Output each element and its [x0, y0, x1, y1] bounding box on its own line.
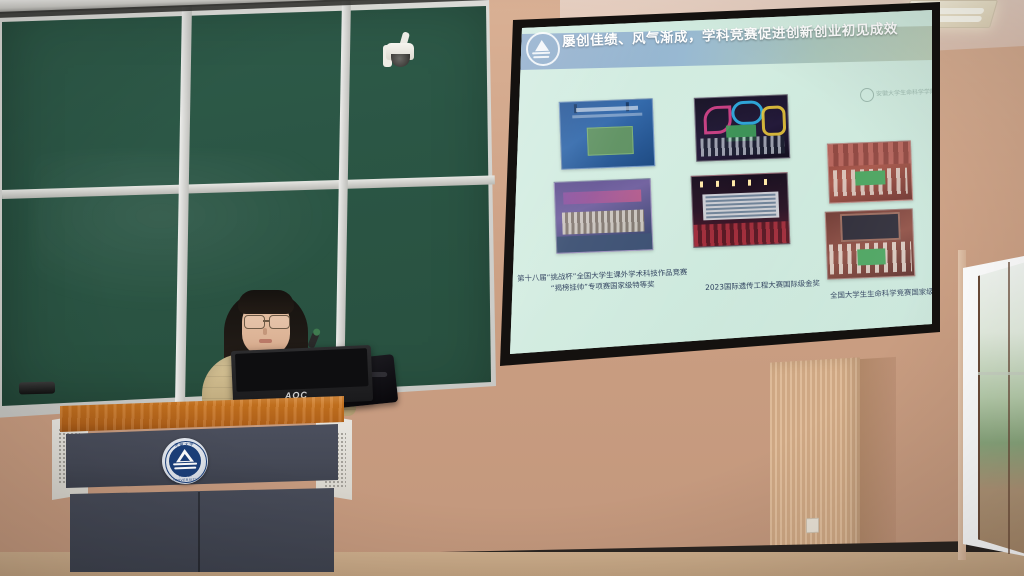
window-mullion: [1008, 262, 1010, 554]
slide-photo-2: [554, 178, 654, 254]
slide-photo-4: [691, 172, 791, 248]
university-emblem-podium: 安徽大学 ANHUI UNIVERSITY: [161, 437, 209, 485]
slide-caption-middle: 2023国际遗传工程大赛国际级金奖: [705, 279, 820, 294]
lower-wall-panel: [440, 330, 1024, 576]
microphone: [307, 331, 319, 348]
camera-dome-lens: [391, 54, 410, 67]
speaker-hair-fringe: [238, 290, 294, 314]
slide-photo-5: [827, 140, 913, 203]
slide-photo-6: [825, 208, 916, 279]
wall-pillar: [860, 357, 896, 565]
presentation-slide: 屡创佳绩、风气渐成，学科竞赛促进创新创业初见成效 安徽大学生命科学学院: [500, 2, 940, 366]
slide-corner-logo: 安徽大学生命科学学院: [860, 85, 926, 102]
slide-photo-1: [559, 98, 656, 170]
emblem-bottom-text: ANHUI UNIVERSITY: [167, 473, 203, 482]
slide-caption-left: 第十八届“挑战杯”全国大学生课外学术科技作品竞赛 “揭榜挂帅”专项赛国家级特等奖: [517, 267, 688, 295]
emblem-top-text: 安徽大学: [173, 442, 195, 448]
lecture-hall-photo: 屡创佳绩、风气渐成，学科竞赛促进创新创业初见成效 安徽大学生命科学学院: [0, 0, 1024, 576]
slide-caption-right: 全国大学生生命科学竞赛国家级一等奖: [830, 286, 956, 302]
podium-base-panel: [70, 488, 334, 572]
podium-base-seam: [198, 492, 200, 572]
window-sill: [978, 372, 1024, 375]
slide-corner-logo-text: 安徽大学生命科学学院: [876, 86, 936, 97]
speaker-glasses: [244, 315, 290, 327]
slide-photo-3: [694, 94, 790, 162]
speaker-mouth: [259, 339, 272, 343]
projection-screen: 屡创佳绩、风气渐成，学科竞赛促进创新创业初见成效 安徽大学生命科学学院: [500, 2, 940, 366]
window-glass: [978, 262, 1024, 554]
lectern-podium: 安徽大学 ANHUI UNIVERSITY: [52, 396, 352, 576]
dome-security-camera: [382, 32, 420, 74]
speaker-nose: [263, 328, 267, 335]
chalkboard-eraser: [19, 382, 55, 395]
wall-outlet: [806, 518, 819, 534]
